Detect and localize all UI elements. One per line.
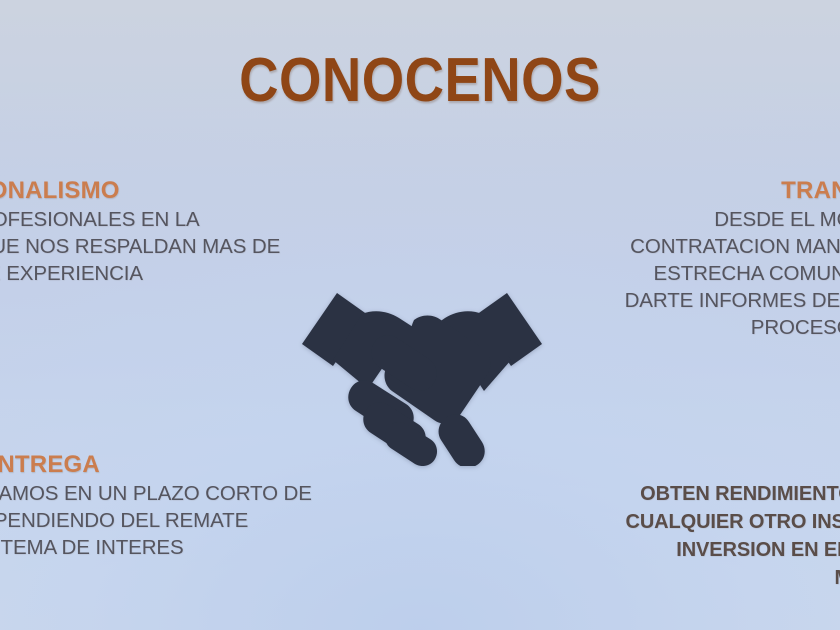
block-heading-profesionalismo: PROFESIONALISMO xyxy=(0,176,280,206)
slide-canvas: CONOCENOS PROFESIONALISMO SOMOS PROFESIO… xyxy=(0,0,840,630)
block-line: MATERIA QUE NOS RESPALDAN MAS DE xyxy=(0,233,280,260)
block-line: DESDE EL MOMENTO DE LA xyxy=(625,206,840,233)
block-line: 30 AÑOS DE EXPERIENCIA xyxy=(0,260,280,287)
block-line: MENOR TIEMPO xyxy=(625,564,840,592)
text-block-profesionalismo: PROFESIONALISMO SOMOS PROFESIONALES EN L… xyxy=(0,176,280,287)
block-line: DARTE INFORMES DETALLADOS DEL xyxy=(625,287,840,314)
handshake-icon xyxy=(296,276,548,466)
block-line: SOMOS PROFESIONALES EN LA xyxy=(0,206,280,233)
block-line: O BIEN DEL TEMA DE INTERES xyxy=(0,534,312,561)
block-line: CUALQUIER OTRO INSTRUMENTO DE xyxy=(625,508,840,536)
text-block-ganancias: GANACIAS OBTEN RENDIMIENTOS MAYORES A CU… xyxy=(625,450,840,592)
block-line: CONTRATACION MANTENEMOS UNA xyxy=(625,233,840,260)
page-title: CONOCENOS xyxy=(50,48,789,113)
block-heading-ganancias: GANACIAS xyxy=(625,450,840,480)
block-line: PROCESO Y SU AVANCE xyxy=(625,314,840,341)
handshake-graphic xyxy=(296,276,548,466)
text-block-entrega: RAPIDA ENTREGA TE ENTREGAMOS EN UN PLAZO… xyxy=(0,450,312,561)
block-line: TIEMPO DEPENDIENDO DEL REMATE xyxy=(0,507,312,534)
block-heading-entrega: RAPIDA ENTREGA xyxy=(0,450,312,480)
block-heading-transparencia: TRANSPARENCIA xyxy=(625,176,840,206)
block-line: OBTEN RENDIMIENTOS MAYORES A xyxy=(625,480,840,508)
block-line: ESTRECHA COMUNICACION PARA xyxy=(625,260,840,287)
block-line: INVERSION EN EL MERCADO EN xyxy=(625,536,840,564)
block-line: TE ENTREGAMOS EN UN PLAZO CORTO DE xyxy=(0,480,312,507)
text-block-transparencia: TRANSPARENCIA DESDE EL MOMENTO DE LA CON… xyxy=(625,176,840,341)
